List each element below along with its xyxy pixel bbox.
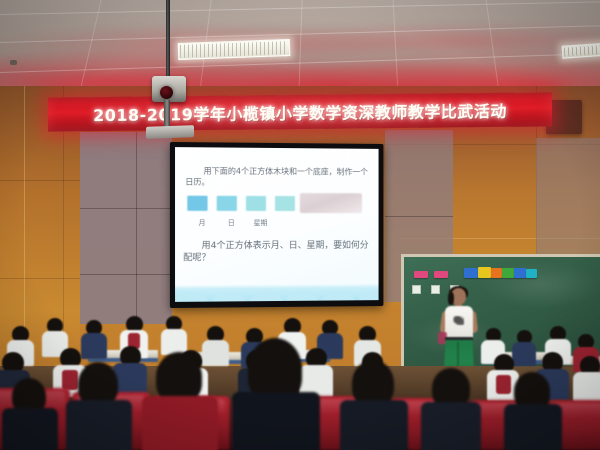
blue-card-2 <box>514 268 526 278</box>
green-card-1 <box>502 268 514 278</box>
wall-seam <box>0 278 80 279</box>
slide-cube-label-day: 日 <box>217 218 246 228</box>
ceiling-speaker <box>10 60 17 65</box>
yellow-card-1 <box>478 267 491 278</box>
teacher-hair-side <box>448 292 454 305</box>
event-banner: 2018-2019学年小榄镇小学数学资深教师教学比武活动 <box>48 92 552 131</box>
ceiling-light-panel-right <box>562 42 600 58</box>
light-diffuser-grate <box>180 41 288 58</box>
teacher-shirt-print <box>453 316 464 325</box>
slide-cube-group <box>187 196 295 211</box>
slide-cube-label-week: 星期 <box>246 218 275 228</box>
slide-instruction-text: 用下面的4个正方体木块和一个底座，制作一个日历。 <box>185 165 371 188</box>
projection-screen: 用下面的4个正方体木块和一个底座，制作一个日历。 月 日 星期 用4个正方体表示… <box>170 142 384 308</box>
ceiling <box>0 0 600 96</box>
slide-cube-label-month: 月 <box>187 218 216 228</box>
projector-lens-icon <box>160 86 173 99</box>
slide-cube-1 <box>187 196 207 211</box>
projector-bracket <box>146 125 194 139</box>
projector-mount-pole <box>166 0 170 78</box>
orange-card-1 <box>491 268 502 278</box>
blue-card-1 <box>464 268 478 278</box>
slide-cube-labels: 月 日 星期 <box>187 218 308 228</box>
slide-wave-decoration <box>175 272 379 301</box>
white-card-1 <box>412 285 421 294</box>
light-diffuser-grate <box>564 44 600 56</box>
pink-card-1 <box>414 271 428 278</box>
slide-cube-2 <box>217 196 237 211</box>
banner-title: 2018-2019学年小榄镇小学数学资深教师教学比武活动 <box>93 98 507 126</box>
acoustic-panel-seam <box>385 216 453 217</box>
acoustic-panel-seam <box>136 132 137 324</box>
slide-base-block <box>300 193 362 213</box>
acoustic-panel-left <box>80 132 172 324</box>
slide-cube-3 <box>246 196 266 211</box>
acoustic-panel-far-right <box>536 138 600 258</box>
slide-question-text: 用4个正方体表示月、日、星期，要如何分配呢？ <box>183 240 374 265</box>
slide-content: 用下面的4个正方体木块和一个底座，制作一个日历。 月 日 星期 用4个正方体表示… <box>175 147 379 302</box>
pink-card-2 <box>434 271 448 278</box>
acoustic-panel-seam <box>80 274 172 275</box>
wall-seam <box>0 180 80 181</box>
cyan-card-1 <box>526 269 537 278</box>
projector-arm <box>164 100 170 128</box>
slide-cube-4 <box>275 196 295 211</box>
white-card-2 <box>431 285 440 294</box>
classroom-photo: 2018-2019学年小榄镇小学数学资深教师教学比武活动 用下面的4个正方体木块… <box>0 0 600 450</box>
acoustic-panel-seam <box>80 208 172 209</box>
